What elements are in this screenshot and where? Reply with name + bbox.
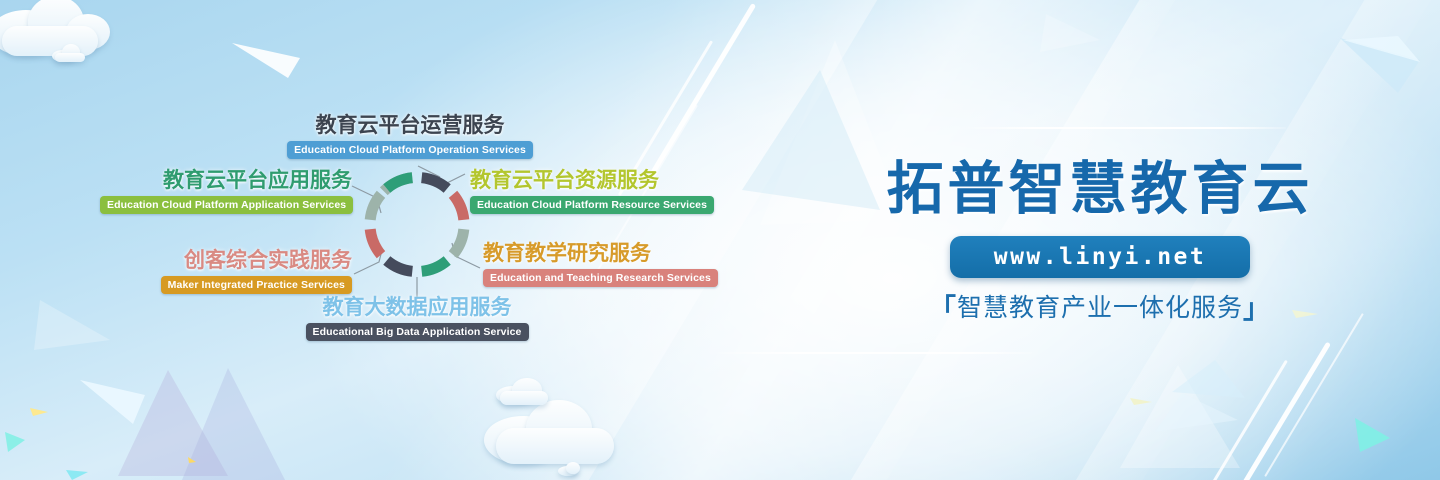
node-resource-en: Education Cloud Platform Resource Servic…: [470, 196, 714, 214]
ring-segment-3: [453, 194, 464, 220]
node-bigdata-cn: 教育大数据应用服务: [292, 297, 542, 318]
tagline: 「智慧教育产业一体化服务」: [760, 296, 1440, 323]
node-bigdata-en: Educational Big Data Application Service: [306, 323, 529, 341]
ring-segment-8: [370, 194, 381, 220]
node-research-en: Education and Teaching Research Services: [483, 269, 718, 287]
tagline-text: 智慧教育产业一体化服务: [957, 294, 1243, 322]
node-research[interactable]: 教育教学研究服务 Education and Teaching Research…: [483, 243, 733, 287]
node-resource-cn: 教育云平台资源服务: [470, 170, 720, 191]
node-maker-en: Maker Integrated Practice Services: [161, 276, 352, 294]
node-operation[interactable]: 教育云平台运营服务 Education Cloud Platform Opera…: [285, 115, 535, 159]
node-maker[interactable]: 创客综合实践服务 Maker Integrated Practice Servi…: [110, 250, 352, 294]
website-url-pill[interactable]: www.linyi.net: [950, 236, 1250, 278]
node-bigdata[interactable]: 教育大数据应用服务 Educational Big Data Applicati…: [292, 297, 542, 341]
segmented-donut-ring: [352, 152, 482, 297]
banner-root: 教育云平台运营服务 Education Cloud Platform Opera…: [0, 0, 1440, 480]
node-maker-cn: 创客综合实践服务: [110, 250, 352, 271]
tagline-open-quote: 「: [929, 294, 957, 324]
node-application-en: Education Cloud Platform Application Ser…: [100, 196, 353, 214]
ring-segment-4: [453, 229, 464, 255]
node-research-cn: 教育教学研究服务: [483, 243, 733, 264]
brand-block: 拓普智慧教育云 www.linyi.net 「智慧教育产业一体化服务」: [760, 0, 1440, 480]
ring-segment-6: [387, 261, 413, 272]
brand-title: 拓普智慧教育云: [760, 160, 1440, 217]
node-resource[interactable]: 教育云平台资源服务 Education Cloud Platform Resou…: [470, 170, 720, 214]
connector-lines: [0, 0, 700, 480]
ring-segment-5: [422, 261, 448, 272]
node-operation-cn: 教育云平台运营服务: [285, 115, 535, 136]
services-diagram: 教育云平台运营服务 Education Cloud Platform Opera…: [0, 0, 700, 480]
node-operation-en: Education Cloud Platform Operation Servi…: [287, 141, 533, 159]
ring-segment-2: [422, 178, 448, 189]
ring-segment-1: [387, 178, 413, 189]
website-url-text: www.linyi.net: [994, 244, 1207, 270]
node-application[interactable]: 教育云平台应用服务 Education Cloud Platform Appli…: [100, 170, 352, 214]
tagline-close-quote: 」: [1243, 294, 1271, 324]
ring-segment-7: [370, 229, 381, 255]
node-application-cn: 教育云平台应用服务: [100, 170, 352, 191]
